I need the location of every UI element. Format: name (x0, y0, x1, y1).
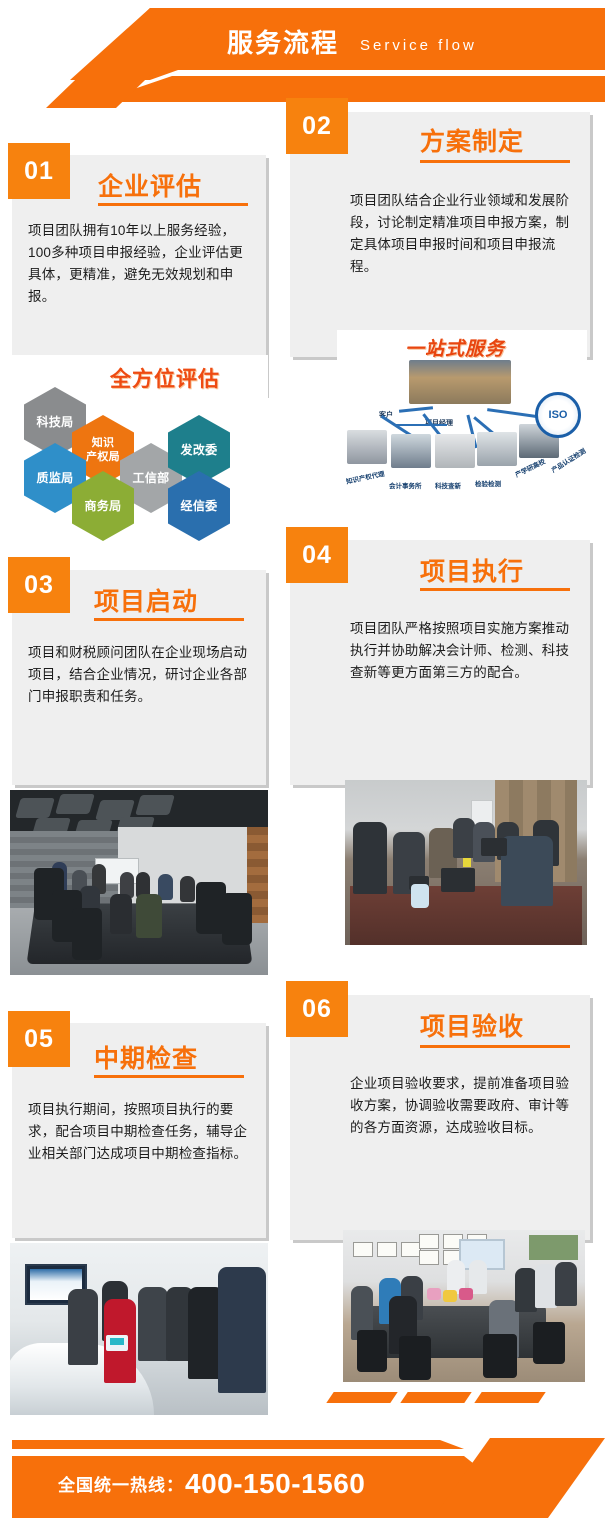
card-body-01: 项目团队拥有10年以上服务经验，100多种项目申报经验，企业评估更具体，更精准，… (28, 220, 250, 308)
hotline-label: 全国统一热线： (58, 1473, 184, 1499)
photo-project-kickoff-meeting (10, 790, 268, 975)
one-stop-node-ip (347, 430, 387, 464)
hex-assessment-diagram: 全方位评估 科技局 知识 产权局 质监局 工信部 商务局 发改委 经信委 (10, 355, 268, 545)
photo-project-execution-meeting (345, 780, 587, 945)
hotline-number[interactable]: 400-150-1560 (185, 1466, 365, 1502)
card-body-06: 企业项目验收要求，提前准备项目验收方案，协调验收需要政府、审计等的各方面资源，达… (350, 1073, 572, 1139)
card-body-03: 项目和财税顾问团队在企业现场启动项目，结合企业情况，研讨企业各部门申报职责和任务… (28, 642, 250, 708)
photo-project-acceptance-meeting (343, 1230, 585, 1382)
card-title-underline-04 (420, 588, 570, 591)
card-title-underline-06 (420, 1045, 570, 1048)
card-body-05: 项目执行期间，按照项目执行的要求，配合项目中期检查任务，辅导企业相关部门达成项目… (28, 1099, 250, 1165)
one-stop-node-accounting (391, 434, 431, 468)
card-title-underline-03 (94, 618, 244, 621)
one-stop-service-diagram: 一站式服务 客户 项目经理 ISO 知识产权代理 会计事务所 科技查新 检验检测… (337, 330, 587, 520)
one-stop-bottom-label-5: 产学研高校 (513, 456, 547, 479)
step-badge-01: 01 (8, 143, 70, 199)
page-header: 服务流程 Service flow (0, 0, 605, 108)
process-card-05: 05 中期检查 项目执行期间，按照项目执行的要求，配合项目中期检查任务，辅导企业… (12, 1023, 266, 1238)
one-stop-bottom-label-4: 检验检测 (475, 478, 501, 488)
hex-diagram-title: 全方位评估 (110, 363, 220, 393)
one-stop-certification-seal: ISO (535, 392, 581, 438)
card-body-02: 项目团队结合企业行业领域和发展阶段，讨论制定精准项目申报方案，制定具体项目申报时… (350, 190, 572, 278)
step-badge-05: 05 (8, 1011, 70, 1067)
one-stop-bottom-label-3: 科技查新 (435, 480, 461, 490)
divider-chevron-1 (326, 1392, 397, 1403)
one-stop-arrow-1 (399, 406, 433, 413)
photo-midterm-inspection-visit (10, 1243, 268, 1415)
card-title-underline-02 (420, 160, 570, 163)
card-title-underline-05 (94, 1075, 244, 1078)
one-stop-bottom-label-2: 会计事务所 (389, 480, 422, 490)
process-card-04: 04 项目执行 项目团队严格按照项目实施方案推动执行并协助解决会计师、检测、科技… (290, 540, 590, 785)
page-title: 服务流程 (227, 26, 339, 60)
divider-chevron-3 (474, 1392, 545, 1403)
page-subtitle: Service flow (360, 36, 477, 56)
one-stop-node-testing (477, 432, 517, 466)
step-badge-02: 02 (286, 98, 348, 154)
step-badge-03: 03 (8, 557, 70, 613)
card-title-underline-01 (98, 203, 248, 206)
card-title-04: 项目执行 (420, 552, 524, 588)
one-stop-bottom-label-1: 知识产权代理 (345, 468, 385, 486)
card-title-01: 企业评估 (98, 167, 202, 203)
card-title-05: 中期检查 (94, 1039, 198, 1075)
one-stop-team-photo (409, 360, 511, 404)
divider-chevron-2 (400, 1392, 471, 1403)
one-stop-arrow-2 (395, 424, 447, 426)
card-body-04: 项目团队严格按照项目实施方案推动执行并协助解决会计师、检测、科技查新等更方面第三… (350, 618, 572, 684)
page-footer: 全国统一热线： 400-150-1560 (0, 1420, 605, 1538)
one-stop-node-research (435, 434, 475, 468)
process-card-06: 06 项目验收 企业项目验收要求，提前准备项目验收方案，协调验收需要政府、审计等… (290, 995, 590, 1240)
one-stop-diagram-title: 一站式服务 (405, 334, 505, 361)
card-title-02: 方案制定 (420, 122, 524, 158)
step-badge-04: 04 (286, 527, 348, 583)
process-card-03: 03 项目启动 项目和财税顾问团队在企业现场启动项目，结合企业情况，研讨企业各部… (12, 570, 266, 785)
card-title-06: 项目验收 (420, 1007, 524, 1043)
step-badge-06: 06 (286, 981, 348, 1037)
process-card-02: 02 方案制定 项目团队结合企业行业领域和发展阶段，讨论制定精准项目申报方案，制… (290, 112, 590, 357)
card-title-03: 项目启动 (94, 582, 198, 618)
